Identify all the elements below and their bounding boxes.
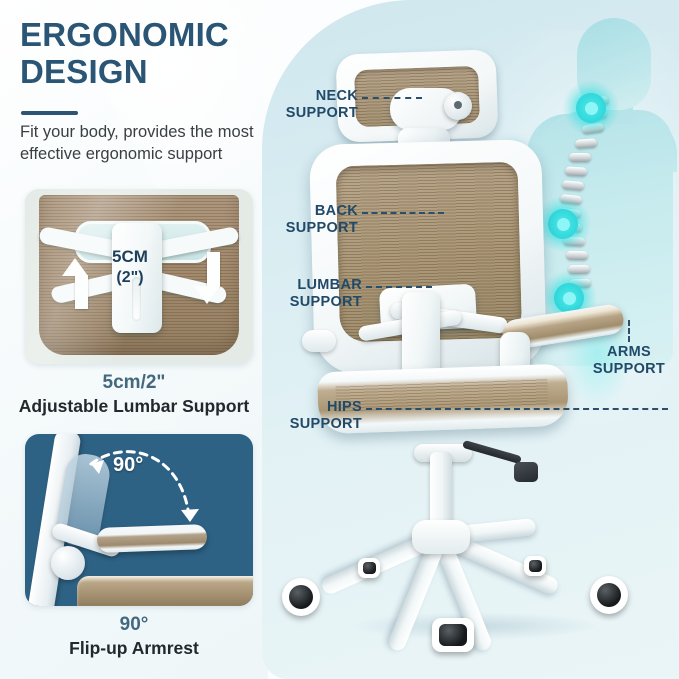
base-center-hub: [412, 520, 470, 554]
callout-hips-line1: HIPS: [262, 399, 362, 416]
caption-lumbar-text: Adjustable Lumbar Support: [0, 395, 268, 418]
callout-lumbar: LUMBAR SUPPORT: [262, 277, 362, 311]
gas-lift-cylinder: [430, 452, 452, 530]
page-subtitle: Fit your body, provides the most effecti…: [20, 121, 270, 165]
leader-line-back: [362, 212, 444, 214]
caster-wheel-5: [524, 556, 546, 576]
chair-armrest-left: [302, 330, 336, 352]
callout-hips-line2: SUPPORT: [262, 416, 362, 433]
caster-wheel-4: [358, 558, 380, 578]
callout-lumbar-line2: SUPPORT: [262, 294, 362, 311]
leader-line-hips: [366, 408, 668, 410]
lever-knob: [514, 462, 538, 482]
caster-wheel-3: [432, 618, 474, 652]
caption-armrest-text: Flip-up Armrest: [0, 637, 268, 660]
caption-armrest: 90° Flip-up Armrest: [0, 613, 268, 660]
callout-neck-line1: NECK: [268, 88, 358, 105]
callout-arms-line2: SUPPORT: [580, 361, 678, 378]
seat-mesh: [335, 378, 548, 411]
lumbar-center-column: [402, 292, 440, 378]
title-line-2: DESIGN: [20, 53, 270, 90]
leader-line-arms: [628, 320, 630, 342]
infographic-root: ERGONOMIC DESIGN Fit your body, provides…: [0, 0, 679, 679]
title-line-1: ERGONOMIC: [20, 16, 270, 53]
armrest-angle-callout: 90°: [113, 454, 143, 477]
chair-diagram-panel: NECK SUPPORT BACK SUPPORT LUMBAR SUPPORT…: [262, 0, 679, 679]
lumbar-callout-cm: 5CM: [101, 246, 159, 267]
caption-armrest-value: 90°: [0, 613, 268, 637]
leader-line-neck: [362, 97, 422, 99]
caption-lumbar-value: 5cm/2": [0, 371, 268, 395]
callout-neck-line2: SUPPORT: [268, 105, 358, 122]
callout-hips: HIPS SUPPORT: [262, 399, 362, 433]
lumbar-measurement-callout: 5CM (2"): [101, 246, 159, 288]
caption-lumbar: 5cm/2" Adjustable Lumbar Support: [0, 371, 268, 418]
leader-line-lumbar: [366, 286, 432, 288]
callout-back-line2: SUPPORT: [262, 220, 358, 237]
callout-neck: NECK SUPPORT: [268, 88, 358, 122]
callout-arms: ARMS SUPPORT: [580, 344, 678, 378]
feature-card-lumbar: 5CM (2"): [25, 189, 253, 364]
lumbar-callout-inch: (2"): [101, 267, 159, 288]
caster-wheel-1: [282, 578, 320, 616]
caster-wheel-2: [590, 576, 628, 614]
armrest-chair-seat: [77, 576, 253, 606]
callout-arms-line1: ARMS: [580, 344, 678, 361]
page-title: ERGONOMIC DESIGN: [20, 16, 270, 90]
title-divider-rule: [21, 111, 78, 115]
headrest-adjust-knob-icon: [444, 92, 472, 120]
callout-lumbar-line1: LUMBAR: [262, 277, 362, 294]
callout-back: BACK SUPPORT: [262, 203, 358, 237]
callout-back-line1: BACK: [262, 203, 358, 220]
feature-card-armrest: 90°: [25, 434, 253, 606]
left-column: ERGONOMIC DESIGN Fit your body, provides…: [0, 0, 268, 679]
armrest-pivot-joint: [51, 546, 85, 580]
